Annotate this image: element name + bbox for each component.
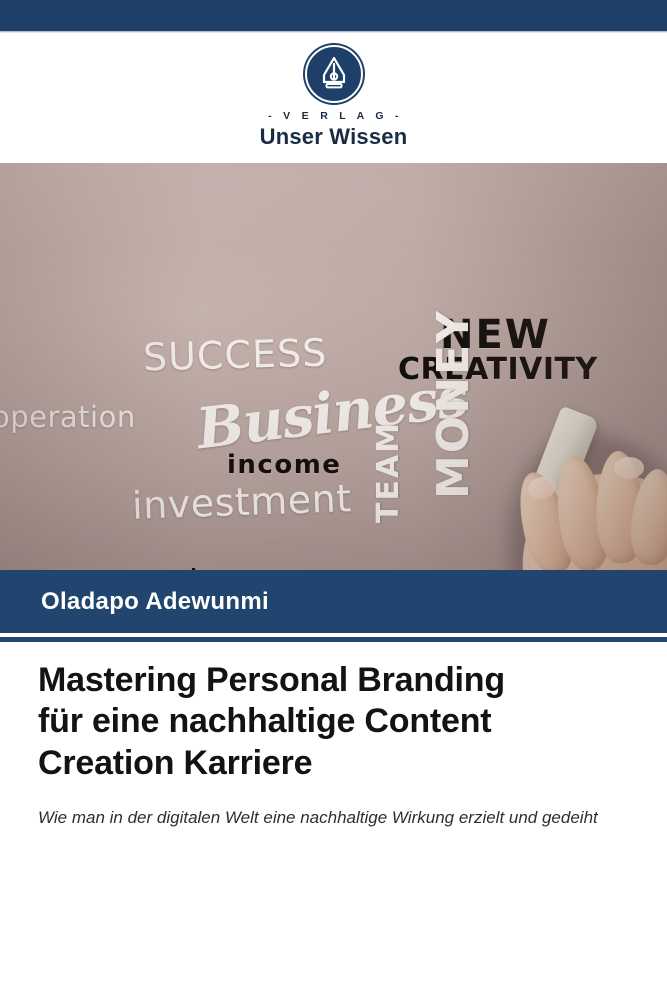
hand-shadow — [498, 424, 667, 570]
hand-fingernail — [526, 474, 559, 502]
chalk-word-team: TEAM — [374, 421, 404, 523]
publisher-name: Unser Wissen — [260, 126, 408, 148]
publisher-verlag-label: - V E R L A G - — [264, 111, 403, 122]
author-band: Oladapo Adewunmi — [0, 570, 667, 633]
hand-finger — [628, 467, 667, 566]
chalk-word-money: MONEY — [432, 309, 476, 499]
hand-finger — [509, 467, 580, 570]
book-title: Mastering Personal Branding für eine nac… — [38, 660, 518, 784]
hand-finger — [549, 452, 615, 570]
title-area: Mastering Personal Branding für eine nac… — [0, 660, 667, 831]
top-navy-bar — [0, 0, 667, 31]
pen-nib-icon — [305, 45, 363, 103]
chalk-word-success: SUCCESS — [143, 334, 328, 377]
chalk-word-operation: operation — [0, 403, 136, 432]
chalk-word-income: income — [227, 452, 341, 478]
publisher-block: - V E R L A G - Unser Wissen — [0, 33, 667, 163]
cover-photo: SUCCESS NEW CREATIVITY operation Busines… — [0, 163, 667, 570]
author-name: Oladapo Adewunmi — [41, 590, 269, 614]
chalk-word-investment: investment — [131, 479, 352, 525]
hand-finger — [594, 450, 646, 564]
chalk-stick — [521, 406, 600, 529]
hand-fingernail — [614, 456, 645, 479]
book-subtitle: Wie man in der digitalen Welt eine nachh… — [38, 806, 603, 831]
book-cover: - V E R L A G - Unser Wissen SUCCESS NEW… — [0, 0, 667, 1000]
hand-with-chalk — [492, 425, 667, 570]
divider-rule — [0, 637, 667, 642]
hand-palm — [512, 463, 667, 570]
